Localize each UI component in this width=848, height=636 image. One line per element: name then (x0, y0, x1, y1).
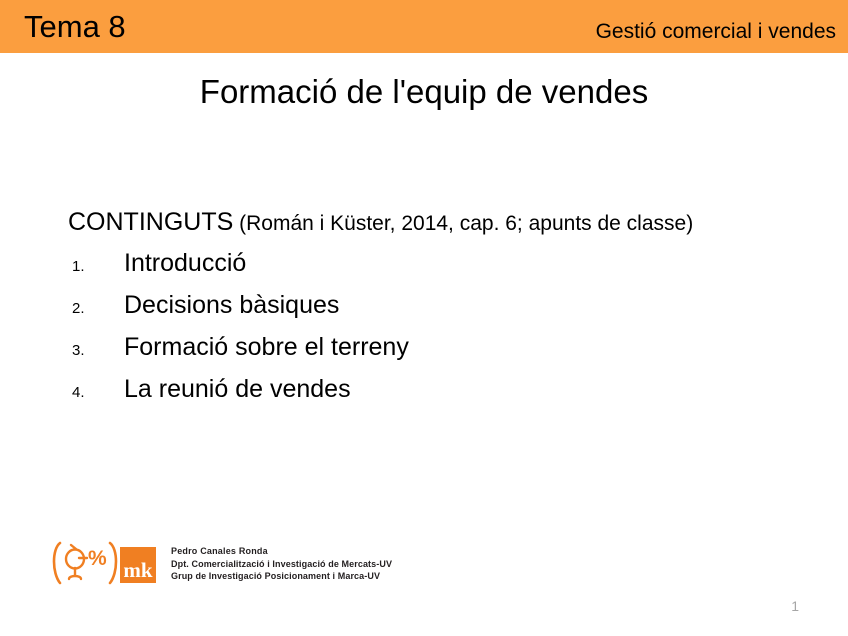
list-item-label: Decisions bàsiques (124, 289, 339, 321)
mk-logo-icon: % mk (48, 539, 158, 589)
list-item-label: La reunió de vendes (124, 373, 351, 405)
contents-list: 1. Introducció 2. Decisions bàsiques 3. … (68, 247, 808, 415)
header-bar: Tema 8 Gestió comercial i vendes (0, 0, 848, 53)
list-item-label: Introducció (124, 247, 246, 279)
list-item-number: 3. (68, 342, 124, 359)
svg-text:mk: mk (123, 558, 152, 582)
header-course-title: Gestió comercial i vendes (596, 19, 836, 45)
list-item: 3. Formació sobre el terreny (68, 331, 808, 373)
header-topic: Tema 8 (24, 8, 126, 46)
footer-author: Pedro Canales Ronda (171, 545, 392, 558)
footer-research-group: Grup de Investigació Posicionament i Mar… (171, 570, 392, 583)
svg-text:%: % (88, 547, 107, 570)
slide: Tema 8 Gestió comercial i vendes Formaci… (0, 0, 848, 636)
list-item-number: 1. (68, 258, 124, 275)
contents-reference: (Román i Küster, 2014, cap. 6; apunts de… (233, 212, 693, 235)
list-item: 1. Introducció (68, 247, 808, 289)
footer-department: Dpt. Comercialització i Investigació de … (171, 558, 392, 571)
contents-label: CONTINGUTS (68, 208, 233, 236)
contents-heading: CONTINGUTS (Román i Küster, 2014, cap. 6… (68, 206, 808, 240)
footer: % mk Pedro Canales Ronda Dpt. Comerciali… (48, 539, 392, 589)
list-item-label: Formació sobre el terreny (124, 331, 409, 363)
list-item: 4. La reunió de vendes (68, 373, 808, 415)
page-title: Formació de l'equip de vendes (0, 72, 848, 112)
content-area: CONTINGUTS (Román i Küster, 2014, cap. 6… (68, 206, 808, 415)
list-item-number: 2. (68, 300, 124, 317)
list-item-number: 4. (68, 384, 124, 401)
page-number: 1 (791, 597, 799, 615)
footer-credits: Pedro Canales Ronda Dpt. Comercialitzaci… (171, 539, 392, 583)
list-item: 2. Decisions bàsiques (68, 289, 808, 331)
